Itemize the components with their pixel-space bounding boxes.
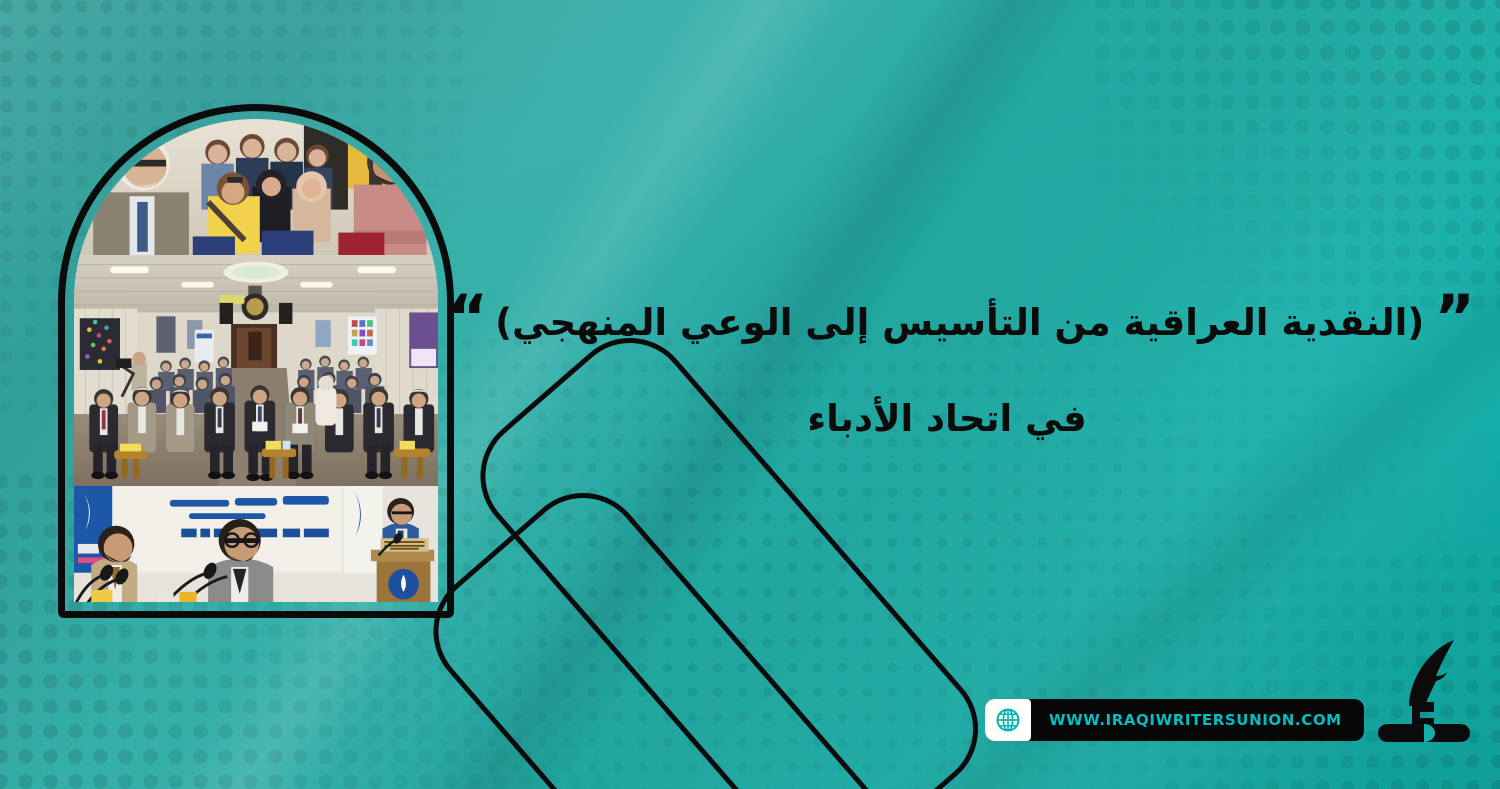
quill-pen-logo: [1368, 632, 1480, 742]
quote-open-icon: “: [447, 296, 485, 341]
photo-collage-frame: [58, 104, 454, 618]
website-url-badge[interactable]: WWW.IRAQIWRITERSUNION.COM: [985, 699, 1364, 741]
photo-collage-clip: [74, 119, 438, 602]
quote-close-icon: ”: [1434, 296, 1472, 341]
headline-block: ” (النقدية العراقية من التأسيس إلى الوعي…: [452, 300, 1472, 440]
globe-icon: [985, 699, 1031, 741]
banner-canvas: ” (النقدية العراقية من التأسيس إلى الوعي…: [0, 0, 1500, 789]
photo-speakers-podium: [74, 486, 438, 602]
headline-subtitle: في اتحاد الأدباء: [452, 397, 1472, 440]
headline-title: (النقدية العراقية من التأسيس إلى الوعي ا…: [495, 300, 1424, 345]
website-url-text: WWW.IRAQIWRITERSUNION.COM: [1049, 711, 1342, 729]
photo-hall-wide: [74, 255, 438, 486]
headline-line-1-row: ” (النقدية العراقية من التأسيس إلى الوعي…: [452, 300, 1472, 345]
photo-audience-closeup: [74, 119, 438, 255]
